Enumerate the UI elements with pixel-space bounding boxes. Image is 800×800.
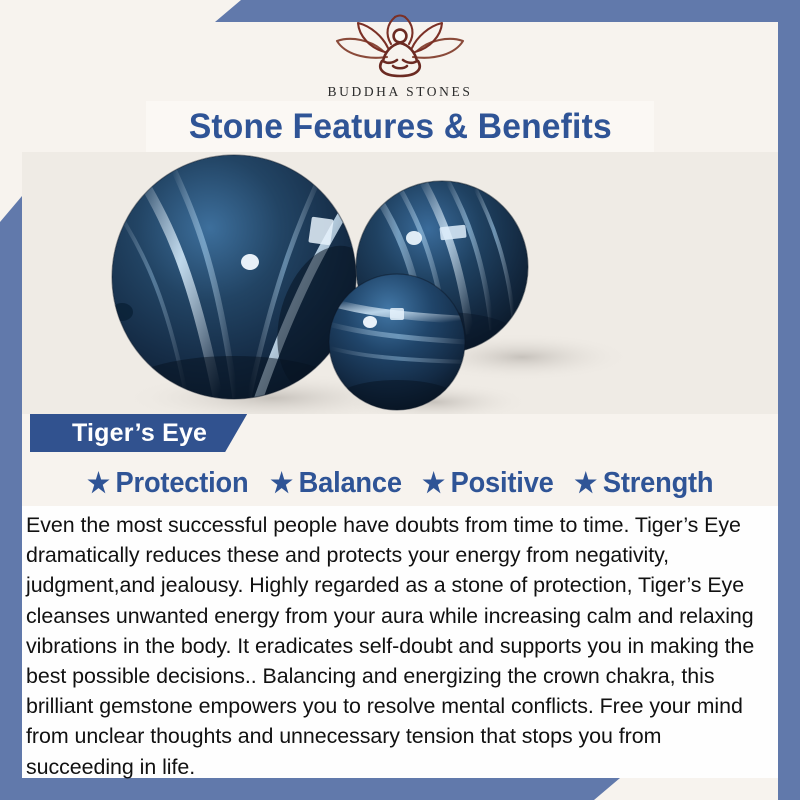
benefit-item-strength: ★ Strength — [574, 467, 713, 500]
description-text: Even the most successful people have dou… — [26, 510, 768, 782]
benefit-label: Strength — [603, 467, 714, 500]
poster-canvas: BUDDHA STONES Stone Features & Benefits — [0, 0, 800, 800]
benefit-item-protection: ★ Protection — [87, 467, 248, 500]
description-block: Even the most successful people have dou… — [22, 506, 778, 778]
benefit-label: Balance — [299, 467, 402, 500]
stone-name-ribbon: Tiger’s Eye — [30, 414, 247, 452]
frame-left-bar — [0, 196, 22, 800]
benefit-label: Positive — [451, 467, 554, 500]
star-icon: ★ — [270, 470, 293, 497]
benefit-item-positive: ★ Positive — [422, 467, 553, 500]
star-icon: ★ — [574, 470, 597, 497]
page-title: Stone Features & Benefits — [188, 107, 611, 147]
brand-logo: BUDDHA STONES — [0, 14, 800, 100]
benefits-list: ★ Protection ★ Balance ★ Positive ★ Stre… — [22, 462, 778, 504]
brand-name: BUDDHA STONES — [328, 84, 473, 100]
benefit-label: Protection — [116, 467, 249, 500]
benefit-item-balance: ★ Balance — [270, 467, 402, 500]
star-icon: ★ — [87, 470, 110, 497]
star-icon: ★ — [422, 470, 445, 497]
stone-photo — [22, 152, 778, 414]
title-band: Stone Features & Benefits — [146, 101, 654, 152]
lotus-meditation-icon — [325, 14, 475, 80]
frame-right-bar — [778, 0, 800, 800]
stone-name: Tiger’s Eye — [30, 419, 247, 448]
